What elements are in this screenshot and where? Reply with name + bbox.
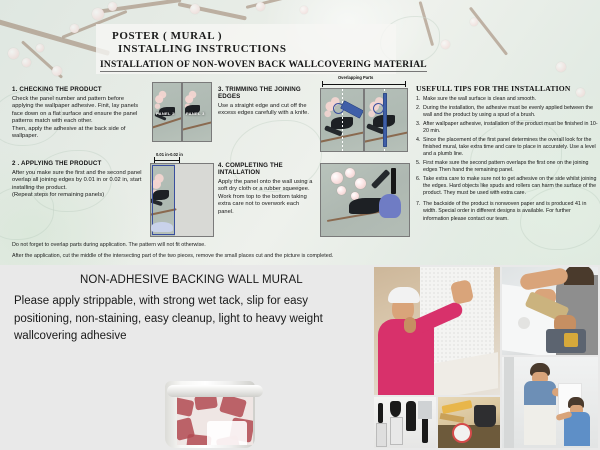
tip-item: 1.Make sure the wall surface is clean an…	[416, 96, 598, 103]
tip-number: 1.	[416, 96, 420, 103]
figure-trim-right	[364, 88, 408, 152]
useful-tips-section: USEFULL TIPS FOR THE INSTALLATION 1.Make…	[416, 84, 598, 224]
tip-number: 4.	[416, 137, 420, 144]
tip-item: 6.Take extra care to make sure not to ge…	[416, 176, 598, 198]
panel-2-label: PANEL 2	[156, 111, 175, 116]
poster-instruction-sheet: POSTER ( MURAL ) INSTALLING INSTRUCTIONS…	[0, 0, 600, 450]
adhesive-bucket-image	[160, 372, 260, 448]
step-4: 4. COMPLETING THE INTALLATION Apply the …	[218, 162, 316, 216]
figure-completing-installation	[320, 163, 410, 237]
step-1-body: Check the panel number and pattern befor…	[12, 96, 146, 142]
tip-item: 3.After wallpaper adhesive, installation…	[416, 121, 598, 135]
photo-installation-tool-set	[374, 397, 436, 448]
tip-number: 2.	[416, 105, 420, 112]
step-3: 3. TRIMMING THE JOINING EDGES Use a stra…	[218, 86, 316, 118]
tip-number: 3.	[416, 121, 420, 128]
overlapping-parts-label: Overlapping Parts	[338, 75, 373, 80]
tip-item: 5.First make sure the second pattern ove…	[416, 160, 598, 174]
poster-title-line2: INSTALLING INSTRUCTIONS	[118, 43, 287, 55]
panel-3-label: PANEL 3	[186, 111, 205, 116]
tip-text: Take extra care to make sure not to get …	[423, 176, 596, 196]
step-2-heading: 2 . APPLYING THE PRODUCT	[12, 160, 146, 167]
tips-list: 1.Make sure the wall surface is clean an…	[416, 96, 598, 223]
tip-text: The backside of the product is nonwoven …	[423, 201, 586, 221]
tip-item: 2.During the installation, the adhesive …	[416, 105, 598, 119]
tip-number: 7.	[416, 201, 420, 208]
photo-grid	[372, 265, 600, 450]
tip-number: 6.	[416, 176, 420, 183]
step-1: 1. CHECKING THE PRODUCT Check the panel …	[12, 86, 146, 141]
tips-title: USEFULL TIPS FOR THE INSTALLATION	[416, 84, 598, 93]
figure-applying-panel	[150, 163, 214, 237]
installation-instruction-panel: POSTER ( MURAL ) INSTALLING INSTRUCTIONS…	[0, 0, 600, 265]
tip-number: 5.	[416, 160, 420, 167]
footnote-1: Do not forget to overlap parts during ap…	[12, 241, 432, 249]
step-3-body: Use a straight edge and cut off the exce…	[218, 103, 316, 118]
photo-woman-hanging-wallpaper	[374, 267, 500, 395]
tip-text: Make sure the wall surface is clean and …	[423, 96, 536, 102]
photo-man-and-child-applying-mural	[502, 357, 598, 448]
step-4-body: Apply the panel onto the wall using a so…	[218, 179, 316, 217]
step-3-heading: 3. TRIMMING THE JOINING EDGES	[218, 86, 316, 100]
step-1-heading: 1. CHECKING THE PRODUCT	[12, 86, 146, 93]
step-4-heading: 4. COMPLETING THE INTALLATION	[218, 162, 316, 176]
figure-panel-3: PANEL 3	[182, 82, 212, 142]
marketing-headline: NON-ADHESIVE BACKING WALL MURAL	[80, 274, 303, 286]
marketing-body: Please apply strippable, with strong wet…	[14, 293, 364, 346]
tip-text: First make sure the second pattern overl…	[423, 160, 588, 173]
figure-trim-left	[320, 88, 364, 152]
step-2-body: After you make sure the first and the se…	[12, 170, 146, 200]
tip-item: 4.Since the placement of the first panel…	[416, 137, 598, 159]
tip-text: Since the placement of the first panel d…	[423, 137, 596, 157]
tip-text: During the installation, the adhesive mu…	[423, 105, 593, 118]
photo-hands-rolling-wallpaper	[502, 267, 598, 355]
tip-text: After wallpaper adhesive, installation o…	[423, 121, 598, 134]
photo-wallpaper-tools-and-paste	[438, 397, 500, 448]
poster-title-line1: POSTER ( MURAL )	[112, 30, 222, 42]
footnote-2: After the application, cut the middle of…	[12, 252, 592, 260]
figure-panel-2: PANEL 2	[152, 82, 182, 142]
tip-item: 7.The backside of the product is nonwove…	[416, 201, 598, 223]
step-2: 2 . APPLYING THE PRODUCT After you make …	[12, 160, 146, 200]
poster-subtitle: INSTALLATION OF NON-WOVEN BACK WALLCOVER…	[100, 60, 427, 72]
